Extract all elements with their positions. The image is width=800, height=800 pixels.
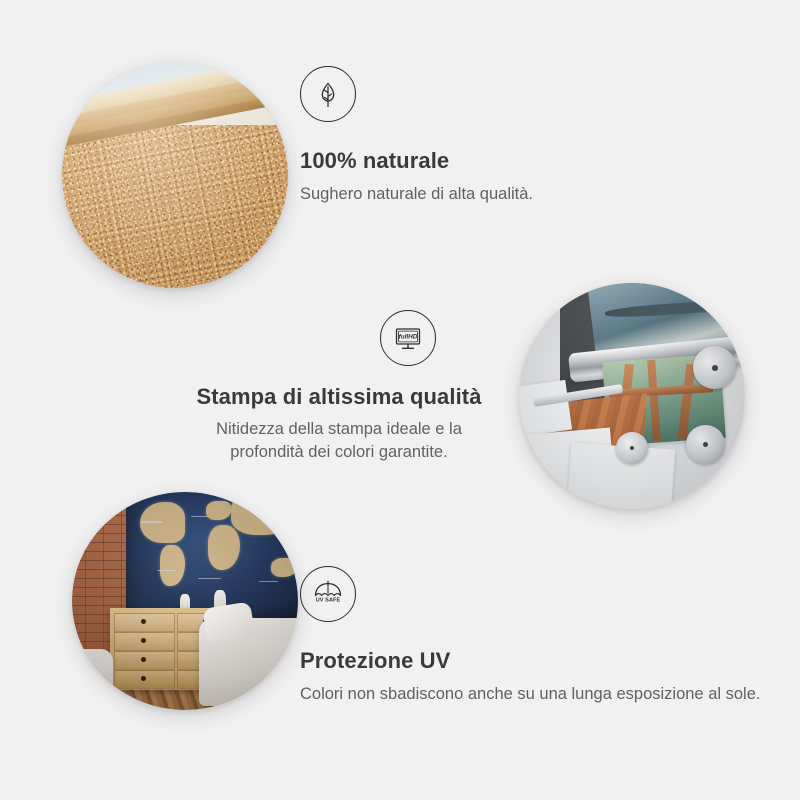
feature-block-print: fullHD Stampa di altissima qualità Nitid…	[186, 310, 492, 465]
cork-texture-photo	[62, 62, 288, 288]
uv-safe-icon-label: UV SAFE	[316, 598, 341, 604]
feature-title-natural: 100% naturale	[300, 148, 533, 174]
fullhd-monitor-icon: fullHD	[380, 310, 436, 366]
feature-block-uv: UV SAFE Protezione UV Colori non sbadisc…	[300, 566, 760, 706]
cork-texture-photo-inner	[62, 62, 288, 288]
feature-description-natural: Sughero naturale di alta qualità.	[300, 183, 533, 206]
room-shading-layer	[72, 492, 298, 710]
fullhd-icon-label: fullHD	[399, 333, 418, 340]
promo-feature-panel: 100% naturale Sughero naturale di alta q…	[0, 0, 800, 800]
feature-title-print: Stampa di altissima qualità	[186, 384, 492, 410]
feature-block-natural: 100% naturale Sughero naturale di alta q…	[300, 66, 533, 206]
feature-title-uv: Protezione UV	[300, 648, 760, 674]
room-world-map-photo	[72, 492, 298, 710]
room-world-map-photo-inner	[72, 492, 298, 710]
umbrella-uv-safe-icon: UV SAFE	[300, 566, 356, 622]
press-shading-layer	[519, 283, 745, 509]
feature-description-uv: Colori non sbadiscono anche su una lunga…	[300, 683, 760, 706]
printing-machine-photo	[519, 283, 745, 509]
cork-shading-layer	[62, 62, 288, 288]
leaf-icon	[300, 66, 356, 122]
feature-description-print: Nitidezza della stampa ideale e la profo…	[186, 418, 492, 465]
printing-machine-photo-inner	[519, 283, 745, 509]
